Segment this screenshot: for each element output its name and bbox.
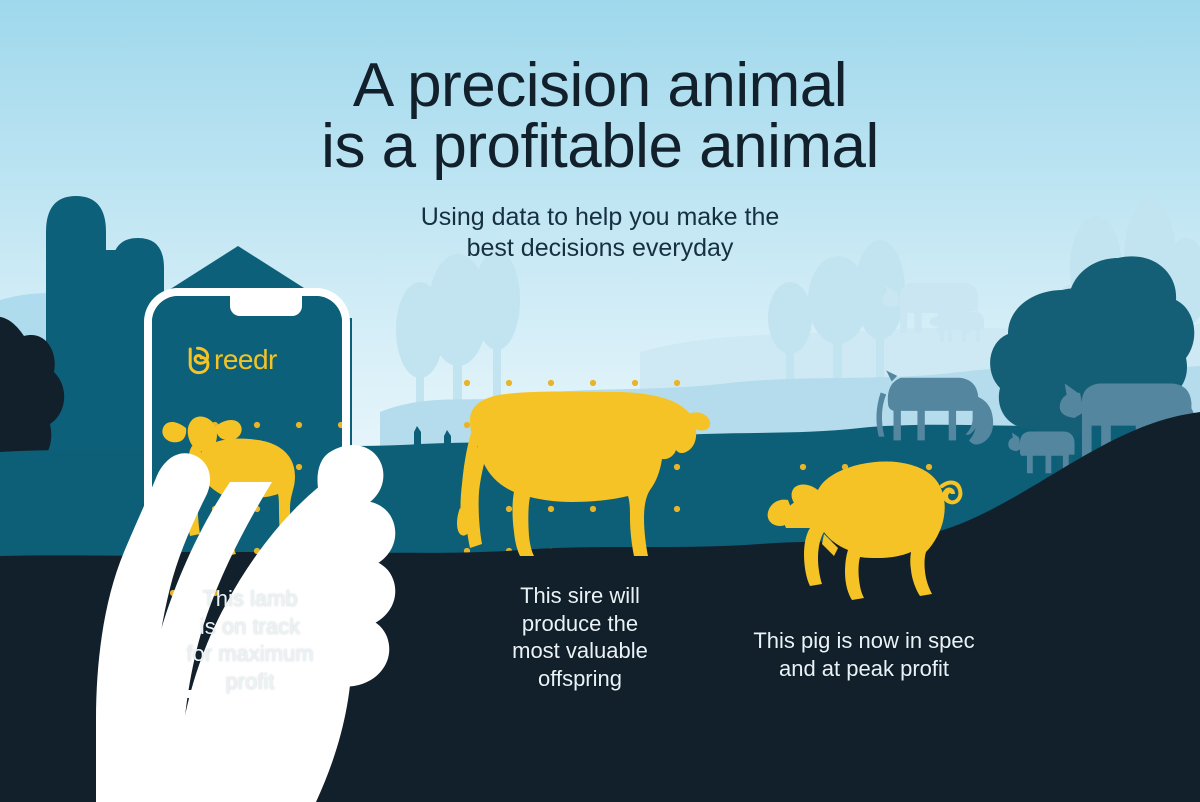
caption-sire: This sire will produce the most valuable…: [470, 582, 690, 693]
page-subtitle: Using data to help you make the best dec…: [0, 202, 1200, 263]
breedr-wordmark: reedr: [214, 346, 277, 374]
breedr-logo[interactable]: reedr: [186, 340, 298, 380]
page-title: A precision animal is a profitable anima…: [0, 56, 1200, 178]
caption-lamb: This lamb is on track for maximum profit: [155, 585, 345, 696]
breedr-spiral-b-icon: [186, 345, 212, 375]
caption-pig: This pig is now in spec and at peak prof…: [718, 627, 1010, 682]
infographic-canvas: A precision animal is a profitable anima…: [0, 0, 1200, 802]
